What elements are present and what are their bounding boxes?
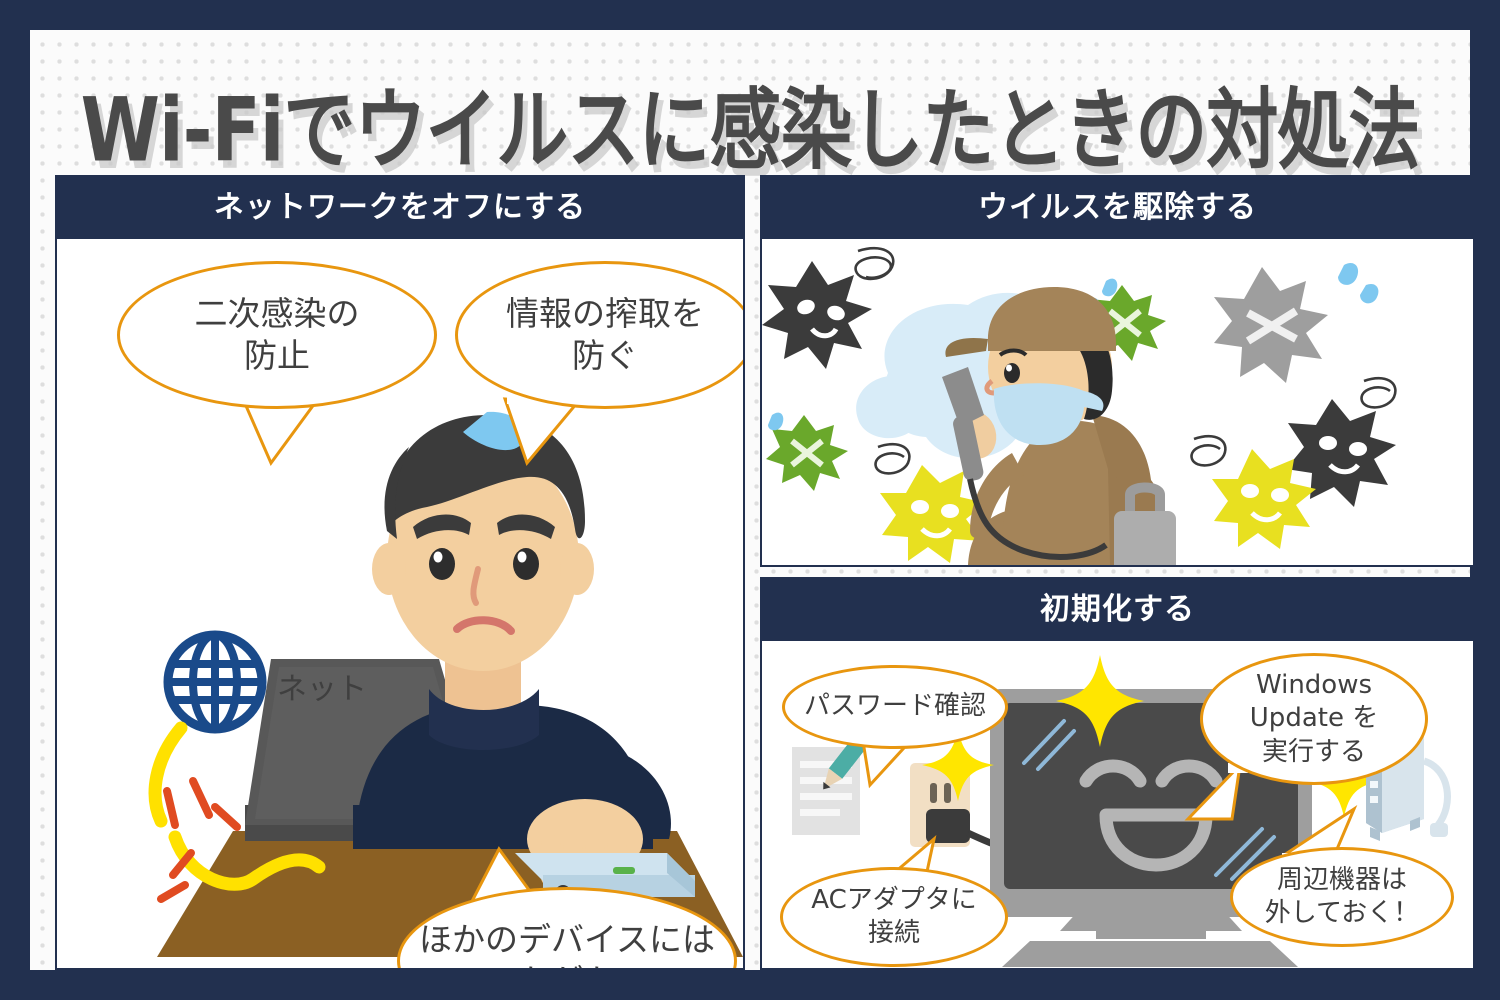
germ-gray-1 [1214, 267, 1328, 383]
bubble-line: Windows [1250, 669, 1378, 702]
poster-inner-canvas: Wi-Fiでウイルスに感染したときの対処法 ネットワークをオフにする [30, 30, 1470, 970]
bubble-line: 実行する [1250, 736, 1378, 769]
panel-network-off-body: 二次感染の 防止 情報の搾取を 防ぐ ほかのデバイスには つながない [57, 239, 743, 968]
exterminator-illustration [762, 239, 1473, 565]
bubble-line: パスワード確認 [804, 690, 986, 723]
title-container: Wi-Fiでウイルスに感染したときの対処法 [30, 58, 1470, 163]
bubble-line: 接続 [811, 917, 976, 950]
bubble-line: 防ぐ [506, 335, 704, 377]
panel-network-off-header: ネットワークをオフにする [57, 177, 743, 239]
panel-remove-virus: ウイルスを駆除する [760, 175, 1475, 567]
bubble-tail-windows-update [1174, 763, 1250, 823]
bubble-line: 周辺機器は [1265, 864, 1419, 897]
bubble-line: 情報の搾取を [506, 293, 704, 335]
panel-network-off: ネットワークをオフにする [55, 175, 745, 970]
panel-factory-reset-body: パスワード確認 Windows Update を 実行する ACアダプタに 接続 [762, 641, 1473, 968]
bubble-line: Update を [1250, 702, 1378, 735]
bubble-line: ほかのデバイスには [419, 919, 715, 961]
bubble-line: 二次感染の [195, 293, 360, 335]
panel-factory-reset-header: 初期化する [762, 579, 1473, 641]
germ-black-1 [762, 261, 872, 369]
globe-icon [168, 635, 262, 729]
bubble-secondary-infection: 二次感染の 防止 [117, 261, 437, 409]
bubble-check-password: パスワード確認 [782, 665, 1008, 749]
bubble-line: 外しておく！ [1265, 897, 1419, 930]
bubble-tail-prevent-theft [497, 397, 587, 467]
panel-remove-virus-body [762, 239, 1473, 565]
worried-man [353, 415, 671, 895]
bubble-connect-ac-adapter: ACアダプタに 接続 [780, 867, 1008, 967]
bubble-line: 防止 [195, 335, 360, 377]
bubble-prevent-data-theft: 情報の搾取を 防ぐ [455, 261, 745, 409]
page-title: Wi-Fiでウイルスに感染したときの対処法 [81, 58, 1420, 186]
bubble-line: ACアダプタに [811, 884, 976, 917]
panel-remove-virus-header: ウイルスを駆除する [762, 177, 1473, 239]
panel-factory-reset: 初期化する [760, 577, 1475, 970]
bubble-windows-update: Windows Update を 実行する [1200, 653, 1428, 785]
bubble-line: つながない [419, 961, 715, 970]
poster-root: Wi-Fiでウイルスに感染したときの対処法 ネットワークをオフにする [0, 0, 1500, 1000]
bubble-detach-peripherals: 周辺機器は 外しておく！ [1230, 847, 1454, 947]
internet-label: ネット [277, 664, 367, 708]
